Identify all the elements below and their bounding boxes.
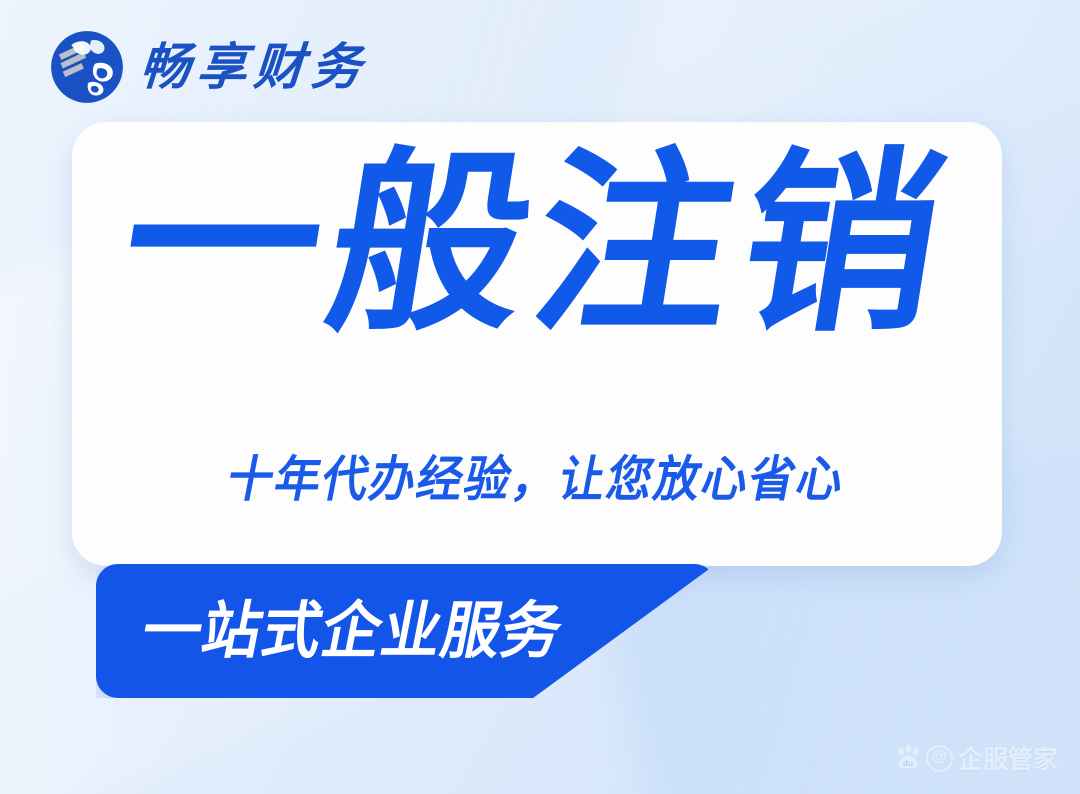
brand-name: 畅享财务: [138, 42, 369, 92]
circular-brush-emblem-icon: [48, 28, 126, 106]
page-title: 一般注销: [55, 140, 1019, 352]
brand-logo: 畅享财务: [48, 24, 368, 110]
service-ribbon-label: 一站式企业服务: [137, 600, 568, 662]
service-ribbon: 一站式企业服务: [96, 564, 716, 698]
card-subtitle: 十年代办经验，让您放心省心: [98, 440, 977, 511]
promo-poster: 畅享财务 一般注销 十年代办经验，让您放心省心 一站式企业服务 du @ 企服管…: [0, 0, 1080, 794]
baidu-paw-icon: du: [895, 745, 921, 771]
watermark: du @ 企服管家: [895, 740, 1058, 776]
watermark-account: 企服管家: [958, 740, 1058, 776]
svg-text:du: du: [903, 759, 913, 768]
at-circle-icon: @: [926, 745, 953, 772]
content-card: 一般注销 十年代办经验，让您放心省心: [72, 122, 1002, 566]
